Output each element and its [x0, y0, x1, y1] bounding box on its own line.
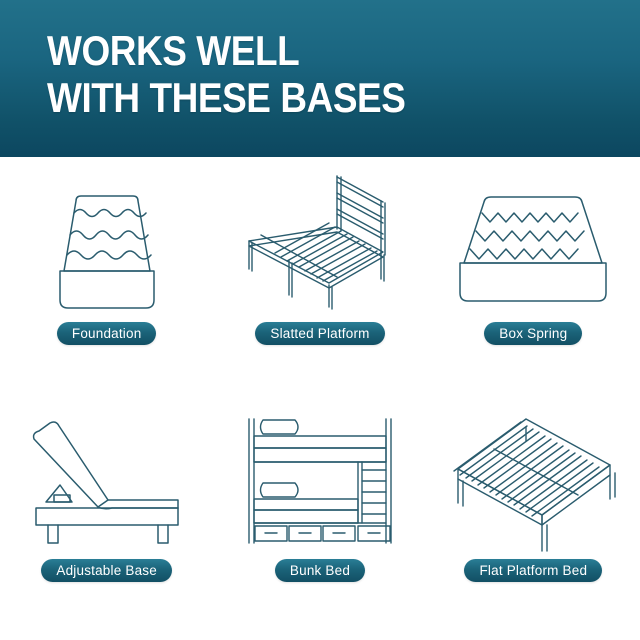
slatted-platform-bed-icon — [225, 165, 415, 320]
bases-grid: Foundation — [0, 157, 640, 640]
base-card-box-spring[interactable]: Box Spring — [427, 157, 640, 399]
base-label-box-spring[interactable]: Box Spring — [484, 322, 582, 345]
page-title: WORKS WELL WITH THESE BASES — [47, 27, 405, 121]
base-card-bunk-bed[interactable]: Bunk Bed — [213, 399, 426, 640]
bunk-bed-icon — [225, 407, 415, 557]
base-label-flat-platform-bed[interactable]: Flat Platform Bed — [464, 559, 602, 582]
base-label-foundation[interactable]: Foundation — [57, 322, 157, 345]
base-card-foundation[interactable]: Foundation — [0, 157, 213, 399]
base-card-slatted-platform[interactable]: Slatted Platform — [213, 157, 426, 399]
base-label-bunk-bed[interactable]: Bunk Bed — [275, 559, 365, 582]
foundation-mattress-icon — [12, 165, 202, 320]
header-banner: WORKS WELL WITH THESE BASES — [0, 0, 640, 157]
base-label-adjustable-base[interactable]: Adjustable Base — [41, 559, 172, 582]
base-card-flat-platform-bed[interactable]: Flat Platform Bed — [427, 399, 640, 640]
base-label-slatted-platform[interactable]: Slatted Platform — [255, 322, 384, 345]
flat-platform-bed-icon — [438, 407, 628, 557]
box-spring-icon — [438, 165, 628, 320]
works-well-with-these-bases-graphic: WORKS WELL WITH THESE BASES Foundation — [0, 0, 640, 640]
adjustable-base-icon — [12, 407, 202, 557]
base-card-adjustable-base[interactable]: Adjustable Base — [0, 399, 213, 640]
